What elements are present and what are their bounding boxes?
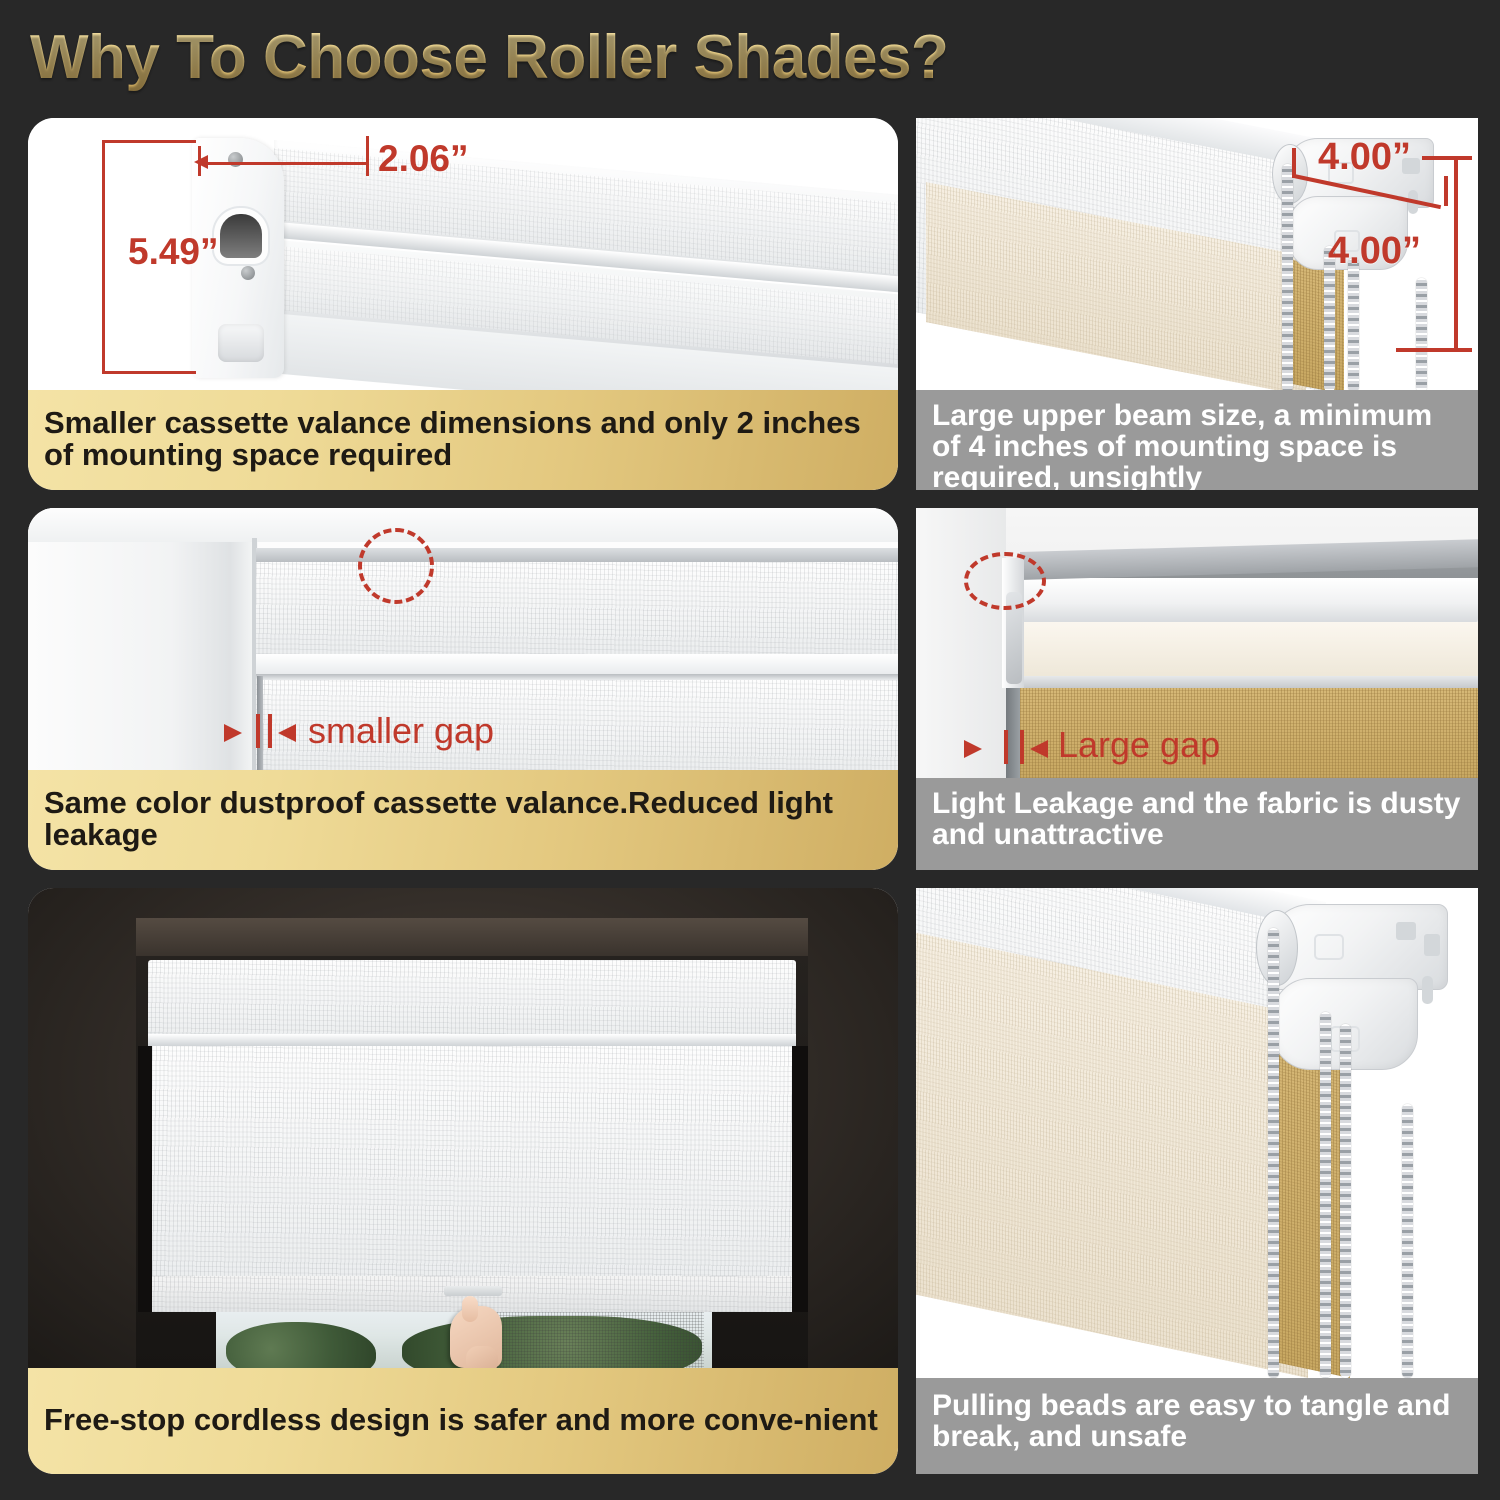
- height-dim-tick-bottom: [102, 371, 196, 374]
- light-leakage-photo: Large gap: [916, 508, 1478, 778]
- bead-chain-4: [1402, 1104, 1413, 1378]
- beam-width-tick-right: [1444, 176, 1448, 206]
- gap-tick-b: [268, 714, 272, 748]
- window-casing-top: [28, 508, 898, 542]
- panel-dustproof-valance[interactable]: smaller gap Same color dustproof cassett…: [28, 508, 898, 870]
- valance-lower-lip: [1020, 676, 1478, 688]
- end-cap-screw-mid: [241, 266, 255, 280]
- panel-pulling-beads[interactable]: Pulling beads are easy to tangle and bre…: [916, 888, 1478, 1474]
- width-dim-tick-left: [198, 146, 201, 176]
- height-dim-tick-top: [102, 140, 196, 143]
- top-rail-tube: [1020, 578, 1478, 624]
- bracket-slot-b: [1424, 934, 1440, 956]
- beam-height-tick-top: [1422, 156, 1472, 160]
- dustproof-valance-photo: smaller gap: [28, 508, 898, 770]
- caption-text: Large upper beam size, a minimum of 4 in…: [932, 400, 1462, 490]
- caption-cassette-dimensions: Smaller cassette valance dimensions and …: [28, 390, 898, 490]
- infographic-page: Why To Choose Roller Shades?: [0, 0, 1500, 1500]
- highlight-dashed-circle: [358, 528, 434, 604]
- bead-chain-2: [1320, 1012, 1331, 1378]
- beam-height-tick-bottom: [1396, 348, 1472, 352]
- valance-bottom-edge: [148, 1034, 796, 1046]
- hand-finger: [462, 1296, 478, 1322]
- bead-chain-1: [1282, 164, 1293, 390]
- window-reveal-right: [792, 1046, 808, 1312]
- gap-tick-b: [1020, 730, 1024, 764]
- shade-pull-tab: [444, 1286, 502, 1296]
- caption-text: Same color dustproof cassette valance.Re…: [44, 787, 882, 851]
- shade-panel-upper: [256, 562, 898, 654]
- window-header-beam: [136, 918, 808, 956]
- gap-arrow-left: [964, 740, 982, 758]
- tan-backing-strip: [1276, 1018, 1350, 1378]
- caption-dustproof-valance: Same color dustproof cassette valance.Re…: [28, 770, 898, 870]
- bead-chain-4: [1416, 278, 1427, 390]
- bead-chain-1: [1268, 928, 1279, 1378]
- tan-backing-strip: [1288, 259, 1344, 390]
- height-dim-line: [102, 140, 105, 374]
- end-cap-bottom-clip: [218, 324, 264, 362]
- width-dim-arrow-left: [194, 155, 208, 169]
- height-dimension-label: 5.49”: [128, 231, 219, 273]
- shade-valance: [148, 960, 796, 1038]
- beam-width-label: 4.00”: [1318, 136, 1411, 179]
- caption-text: Smaller cassette valance dimensions and …: [44, 407, 882, 471]
- panel-grid: 2.06” 5.49” Smaller cassette valance dim…: [0, 0, 1500, 1500]
- bead-chain-3: [1340, 1024, 1351, 1378]
- upper-beam-photo: 4.00” 4.00”: [916, 118, 1478, 390]
- valance-head-rail: [256, 548, 898, 562]
- gap-label-large: Large gap: [1058, 724, 1220, 766]
- width-dimension-label: 2.06”: [378, 138, 469, 180]
- caption-text: Light Leakage and the fabric is dusty an…: [932, 788, 1462, 850]
- panel-cassette-dimensions[interactable]: 2.06” 5.49” Smaller cassette valance dim…: [28, 118, 898, 490]
- bracket-slot-a: [1396, 922, 1416, 940]
- caption-cordless-design: Free-stop cordless design is safer and m…: [28, 1368, 898, 1474]
- shade-fabric: [152, 1046, 792, 1276]
- caption-upper-beam-size: Large upper beam size, a minimum of 4 in…: [916, 390, 1478, 490]
- cassette-photo: 2.06” 5.49”: [28, 118, 898, 390]
- gap-arrow-right: [278, 724, 296, 742]
- panel-light-leakage[interactable]: Large gap Light Leakage and the fabric i…: [916, 508, 1478, 870]
- width-dim-line: [200, 162, 368, 165]
- end-cap-roller-slot: [220, 214, 262, 258]
- gap-wall-left: [916, 508, 1006, 778]
- gap-arrow-right: [1030, 740, 1048, 758]
- panel-upper-beam-size[interactable]: 4.00” 4.00” Large upper beam size, a min…: [916, 118, 1478, 490]
- caption-pulling-beads: Pulling beads are easy to tangle and bre…: [916, 1378, 1478, 1474]
- window-reveal-left: [138, 1046, 152, 1312]
- cordless-room-photo: [28, 888, 898, 1368]
- caption-light-leakage: Light Leakage and the fabric is dusty an…: [916, 778, 1478, 870]
- highlight-dashed-circle: [964, 552, 1046, 610]
- gap-tick-a: [1004, 730, 1008, 764]
- beam-width-tick-left: [1292, 148, 1296, 178]
- gap-tick-a: [256, 714, 260, 748]
- bracket-emblem-upper: [1314, 934, 1344, 960]
- beam-height-label: 4.00”: [1328, 230, 1421, 273]
- cream-valance-face: [1020, 622, 1478, 678]
- beam-height-dim-line: [1454, 156, 1458, 352]
- hand-forearm: [466, 1346, 498, 1368]
- tree-foliage-left: [226, 1322, 376, 1368]
- bead-chain-3: [1348, 258, 1359, 390]
- caption-text: Free-stop cordless design is safer and m…: [44, 1404, 878, 1436]
- panel-cordless-design[interactable]: Free-stop cordless design is safer and m…: [28, 888, 898, 1474]
- bracket-slot-c: [1422, 976, 1433, 1004]
- pulling-beads-photo: [916, 888, 1478, 1378]
- gap-label-smaller: smaller gap: [308, 710, 494, 752]
- shade-mid-rail: [256, 654, 898, 676]
- caption-text: Pulling beads are easy to tangle and bre…: [932, 1390, 1462, 1452]
- gap-arrow-left: [224, 724, 242, 742]
- width-dim-tick-right: [366, 136, 369, 176]
